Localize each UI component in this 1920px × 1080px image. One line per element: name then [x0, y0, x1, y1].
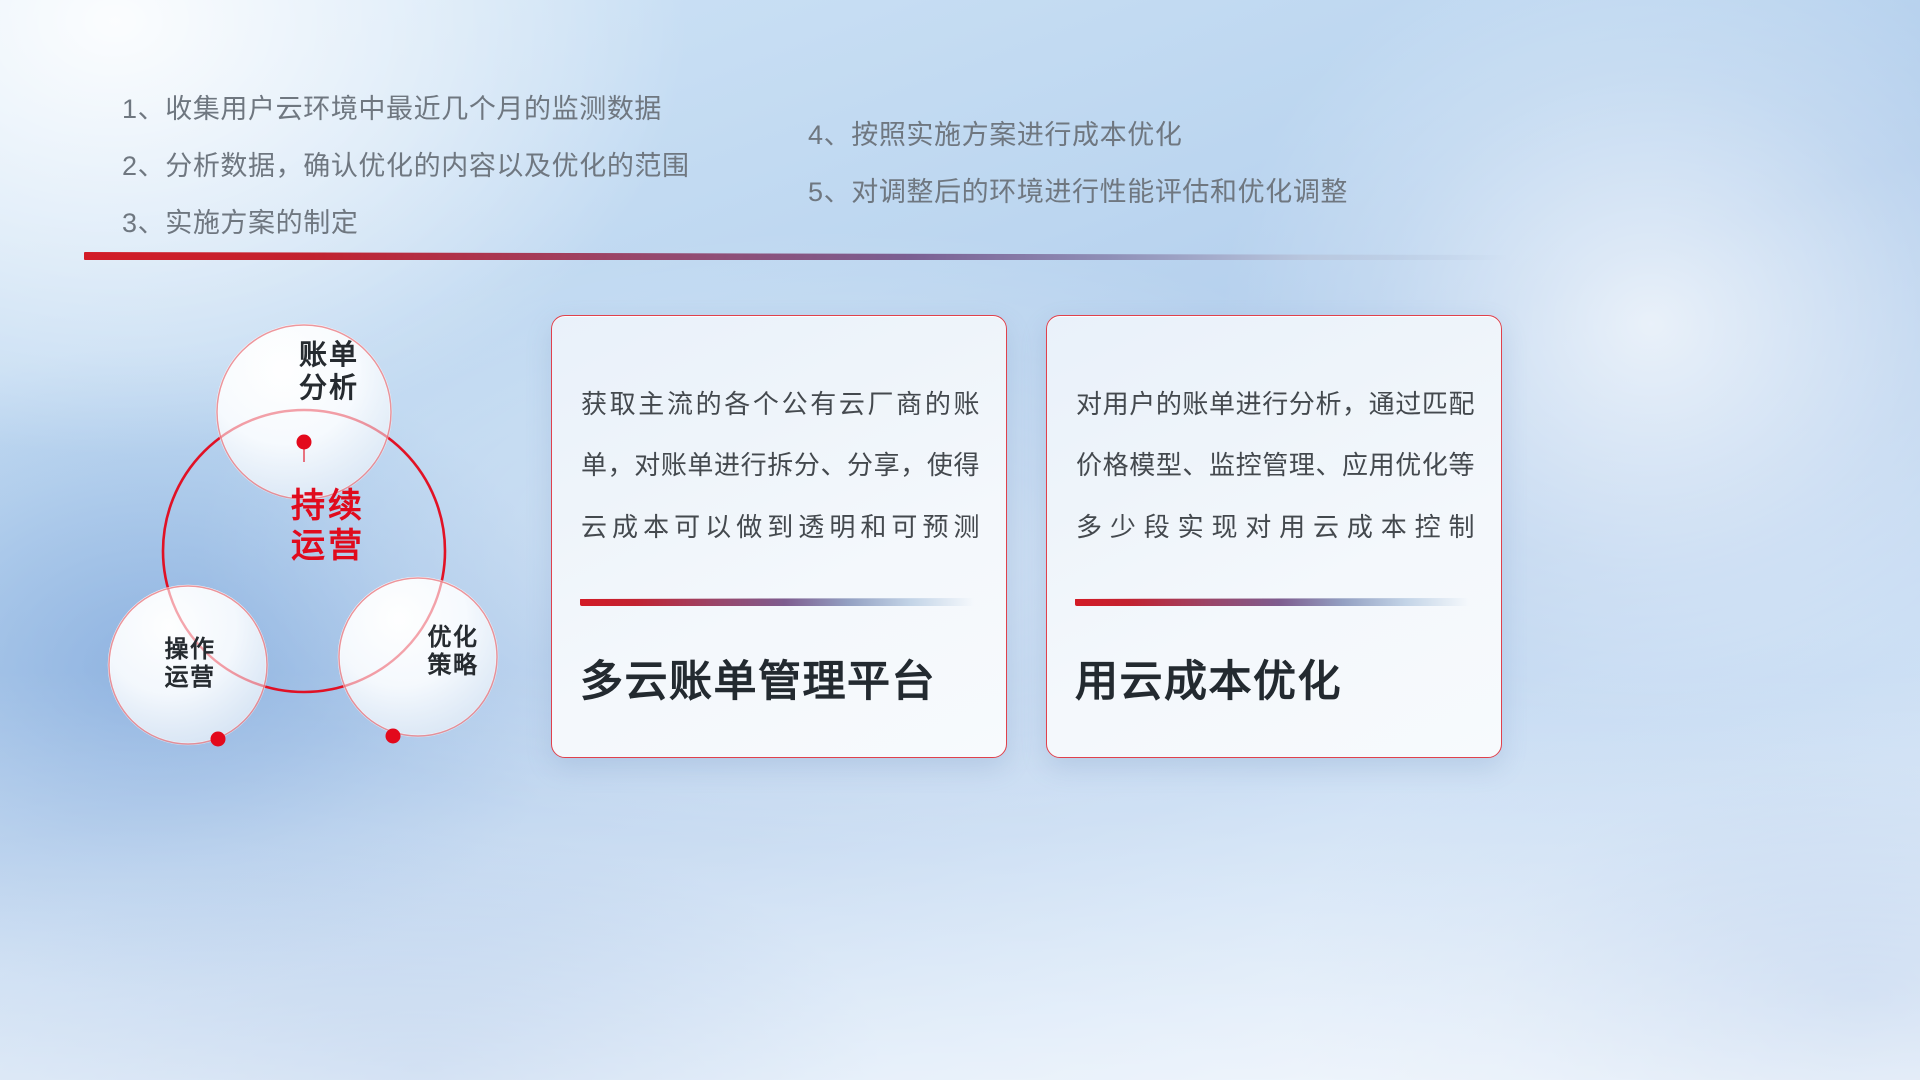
venn-diagram: 账单 分析 操作 运营 优化 策略 持续 运营	[78, 286, 528, 756]
step-item: 5、对调整后的环境进行性能评估和优化调整	[808, 179, 1508, 206]
venn-label-optimization-strategy: 优化 策略	[393, 624, 513, 681]
card-body-text: 获取主流的各个公有云厂商的账单，对账单进行拆分、分享，使得云成本可以做到透明和可…	[581, 374, 980, 558]
venn-label-line: 运营	[130, 664, 250, 692]
info-card-cloud-cost-optimization[interactable]: 对用户的账单进行分析，通过匹配价格模型、监控管理、应用优化等多少段实现对用云成本…	[1046, 315, 1502, 758]
card-divider	[1075, 598, 1469, 606]
venn-center-line: 运营	[228, 526, 428, 566]
step-item: 4、按照实施方案进行成本优化	[808, 122, 1508, 149]
card-title: 多云账单管理平台	[580, 656, 986, 710]
venn-center-label: 持续 运营	[228, 486, 428, 566]
venn-center-line: 持续	[228, 486, 428, 526]
venn-label-operations: 操作 运营	[130, 636, 250, 693]
steps-list-right: 4、按照实施方案进行成本优化 5、对调整后的环境进行性能评估和优化调整	[808, 122, 1508, 236]
venn-label-line: 策略	[393, 652, 513, 680]
venn-label-line: 优化	[393, 624, 513, 652]
venn-node-dot-left	[211, 732, 226, 747]
steps-list-left: 1、收集用户云环境中最近几个月的监测数据 2、分析数据，确认优化的内容以及优化的…	[122, 96, 822, 267]
card-title: 用云成本优化	[1075, 656, 1481, 710]
venn-label-line: 操作	[130, 636, 250, 664]
step-item: 1、收集用户云环境中最近几个月的监测数据	[122, 96, 822, 123]
info-card-multicloud-billing[interactable]: 获取主流的各个公有云厂商的账单，对账单进行拆分、分享，使得云成本可以做到透明和可…	[551, 315, 1007, 758]
step-item: 2、分析数据，确认优化的内容以及优化的范围	[122, 153, 822, 180]
venn-label-line: 账单	[264, 338, 394, 371]
card-divider	[580, 598, 974, 606]
card-body-text: 对用户的账单进行分析，通过匹配价格模型、监控管理、应用优化等多少段实现对用云成本…	[1076, 374, 1475, 558]
venn-label-bill-analysis: 账单 分析	[264, 338, 394, 404]
venn-node-dot-right	[386, 729, 401, 744]
venn-label-line: 分析	[264, 371, 394, 404]
step-item: 3、实施方案的制定	[122, 210, 822, 237]
